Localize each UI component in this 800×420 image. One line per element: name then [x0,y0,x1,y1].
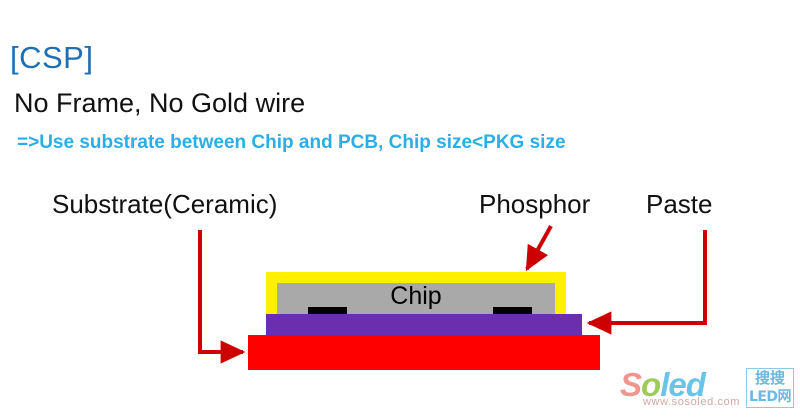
watermark-badge-cn: 搜搜 [747,369,793,388]
cross-section-diagram: Chip [0,0,800,420]
red-substrate-layer [248,335,600,370]
watermark-logo: Soled www.sosoled.com 搜搜 LED网 [620,368,795,412]
purple-paste-layer [266,314,582,335]
watermark-badge: 搜搜 LED网 [746,368,794,408]
watermark-brand-s: S [620,366,641,403]
slide-canvas: [CSP] No Frame, No Gold wire =>Use subst… [0,0,800,420]
watermark-badge-en: LED网 [747,388,793,407]
watermark-url: www.sosoled.com [643,396,740,408]
